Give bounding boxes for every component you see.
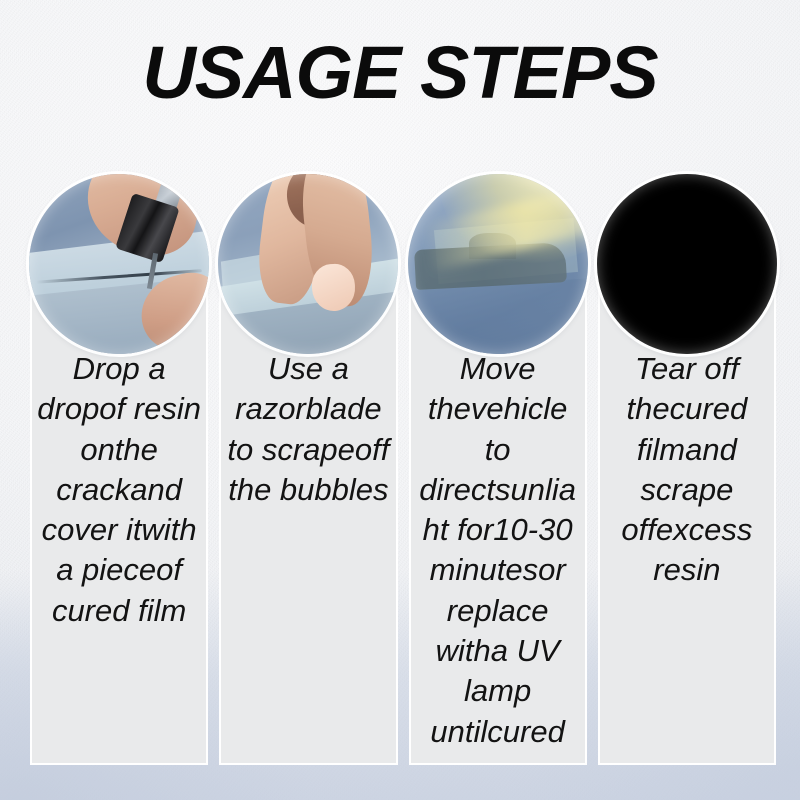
step-card-1: Drop a dropof resin onthe crackand cover… [30,247,208,765]
step-card-3: Move thevehicle to directsunliaht for10-… [409,247,587,765]
usage-steps-poster: USAGE STEPS Drop a dropof resin onthe cr… [0,0,800,800]
blank-black-photo [597,174,777,354]
step-3-text: Move thevehicle to directsunliaht for10-… [411,349,585,752]
step-card-4: Tear off thecured filmand scrape offexce… [598,247,776,765]
step-2-image-circle [218,174,398,354]
step-card-2: Use a razorblade to scrapeoff the bubble… [219,247,397,765]
hand-applying-resin-photo [29,174,209,354]
step-4-image-circle [597,174,777,354]
step-1-text: Drop a dropof resin onthe crackand cover… [32,349,206,631]
step-3-image-circle [408,174,588,354]
sunlit-windshield-photo [408,174,588,354]
page-title: USAGE STEPS [0,36,800,110]
hand-holding-film-photo [218,174,398,354]
step-2-text: Use a razorblade to scrapeoff the bubble… [221,349,395,510]
step-1-image-circle [29,174,209,354]
step-4-text: Tear off thecured filmand scrape offexce… [600,349,774,591]
steps-row: Drop a dropof resin onthe crackand cover… [30,247,776,765]
